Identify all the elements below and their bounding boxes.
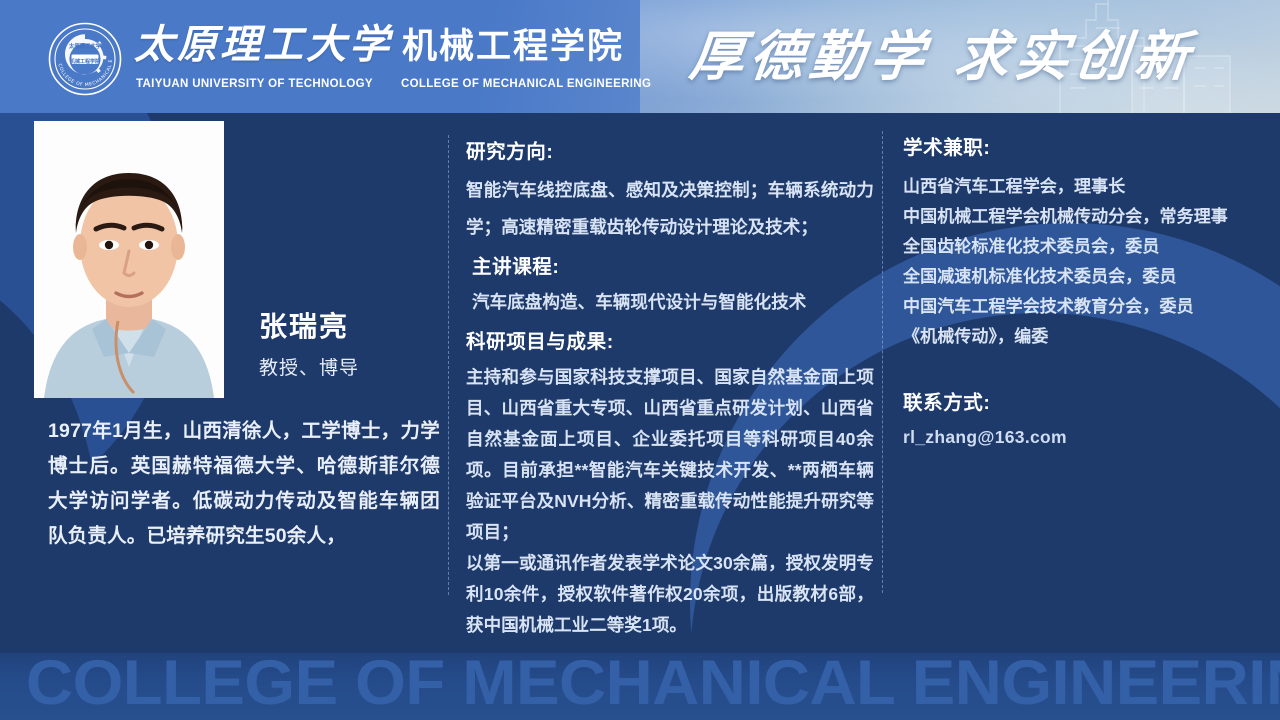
person-bio: 1977年1月生，山西清徐人，工学博士，力学博士后。英国赫特福德大学、哈德斯菲尔… (48, 414, 440, 554)
slide-header: 太原理工大学 机械工程学院 COLLEGE OF MECHANICAL ENGI… (0, 0, 1280, 113)
research-text: 智能汽车线控底盘、感知及决策控制；车辆系统动力学；高速精密重载齿轮传动设计理论及… (466, 172, 874, 246)
column-divider-left (448, 135, 449, 595)
projects-text-1: 主持和参与国家科技支撑项目、国家自然基金面上项目、山西省重大专项、山西省重点研发… (466, 362, 874, 548)
list-item: 全国减速机标准化技术委员会，委员 (903, 262, 1275, 292)
slide-footer: COLLEGE OF MECHANICAL ENGINEERING (0, 653, 1280, 720)
footer-title: COLLEGE OF MECHANICAL ENGINEERING (26, 653, 1280, 719)
projects-text-2: 以第一或通讯作者发表学术论文30余篇，授权发明专利10余件，授权软件著作权20余… (466, 548, 874, 641)
university-name-en: TAIYUAN UNIVERSITY OF TECHNOLOGY (136, 78, 373, 90)
research-heading: 研究方向: (466, 135, 874, 164)
tut-circular-emblem-icon: 太原理工大学 机械工程学院 COLLEGE OF MECHANICAL ENGI… (48, 22, 122, 96)
contact-email[interactable]: rl_zhang@163.com (903, 427, 1275, 448)
appointments-heading: 学术兼职: (903, 131, 1275, 160)
brand-english: TAIYUAN UNIVERSITY OF TECHNOLOGYCOLLEGE … (136, 78, 651, 90)
list-item: 《机械传动》，编委 (903, 322, 1275, 352)
column-divider-right (882, 131, 883, 593)
courses-text: 汽车底盘构造、车辆现代设计与智能化技术 (466, 287, 874, 318)
college-name-cn: 机械工程学院 (402, 27, 624, 66)
courses-heading: 主讲课程: (466, 250, 874, 279)
middle-column: 研究方向: 智能汽车线控底盘、感知及决策控制；车辆系统动力学；高速精密重载齿轮传… (466, 135, 874, 641)
calligraphy-motto: 厚德勤学 求实创新 (686, 16, 1214, 96)
slide-canvas: 太原理工大学 机械工程学院 COLLEGE OF MECHANICAL ENGI… (0, 0, 1280, 720)
right-column: 学术兼职: 山西省汽车工程学会，理事长 中国机械工程学会机械传动分会，常务理事 … (903, 131, 1275, 448)
svg-text:机械工程学院: 机械工程学院 (69, 58, 100, 65)
person-name: 张瑞亮 (259, 305, 349, 345)
slide-body: 张瑞亮 教授、博导 1977年1月生，山西清徐人，工学博士，力学博士后。英国赫特… (0, 113, 1280, 653)
list-item: 全国齿轮标准化技术委员会，委员 (903, 232, 1275, 262)
list-item: 山西省汽车工程学会，理事长 (903, 172, 1275, 202)
appointments-list: 山西省汽车工程学会，理事长 中国机械工程学会机械传动分会，常务理事 全国齿轮标准… (903, 172, 1275, 352)
college-name-en: COLLEGE OF MECHANICAL ENGINEERING (401, 78, 651, 90)
list-item: 中国机械工程学会机械传动分会，常务理事 (903, 202, 1275, 232)
portrait-photo-icon (34, 121, 224, 398)
brand-chinese: 太原理工大学机械工程学院 (134, 25, 624, 65)
contact-heading: 联系方式: (903, 386, 1275, 415)
university-name-cn: 太原理工大学 (134, 21, 392, 68)
svg-text:太原理工大学: 太原理工大学 (69, 42, 102, 50)
projects-heading: 科研项目与成果: (466, 325, 874, 354)
list-item: 中国汽车工程学会技术教育分会，委员 (903, 292, 1275, 322)
person-title: 教授、博导 (259, 353, 359, 380)
